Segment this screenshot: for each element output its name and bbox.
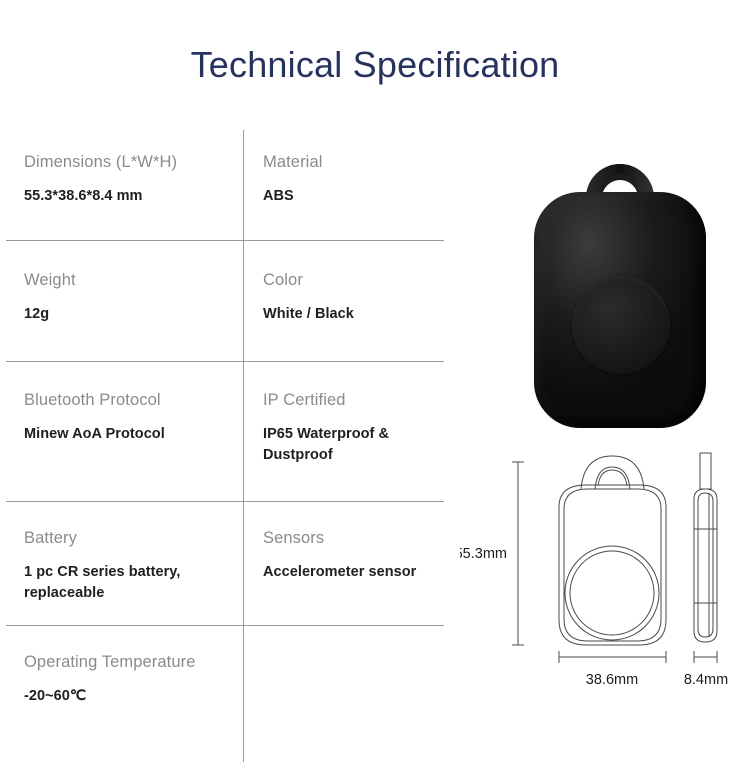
table-cell-battery: Battery 1 pc CR series battery, replacea… xyxy=(24,528,236,604)
cell-value: IP65 Waterproof & Dustproof xyxy=(263,424,453,466)
product-photo xyxy=(520,150,720,435)
cell-label: Operating Temperature xyxy=(24,652,236,673)
table-cell-bluetooth-protocol: Bluetooth Protocol Minew AoA Protocol xyxy=(24,390,236,445)
cell-label: IP Certified xyxy=(263,390,453,411)
table-cell-dimensions: Dimensions (L*W*H) 55.3*38.6*8.4 mm xyxy=(24,152,236,207)
width-dimension-label: 38.6mm xyxy=(586,672,638,688)
table-column-divider xyxy=(243,130,244,762)
cell-label: Color xyxy=(263,270,453,291)
table-cell-operating-temperature: Operating Temperature -20~60℃ xyxy=(24,652,236,707)
thickness-dimension-label: 8.4mm xyxy=(684,672,728,688)
specification-table: Dimensions (L*W*H) 55.3*38.6*8.4 mm Mate… xyxy=(6,130,444,762)
cell-value: 12g xyxy=(24,304,236,325)
cell-value: 55.3*38.6*8.4 mm xyxy=(24,186,236,207)
page-title: Technical Specification xyxy=(0,44,750,86)
table-row-divider xyxy=(6,625,444,626)
cell-label: Dimensions (L*W*H) xyxy=(24,152,236,173)
cell-label: Battery xyxy=(24,528,236,549)
technical-drawings: 55.3mm 38.6mm 8.4mm xyxy=(460,445,750,690)
cell-value: Accelerometer sensor xyxy=(263,562,453,583)
height-dimension-label: 55.3mm xyxy=(460,546,507,562)
cell-value: ABS xyxy=(263,186,453,207)
table-row-divider xyxy=(6,501,444,502)
cell-label: Bluetooth Protocol xyxy=(24,390,236,411)
table-cell-ip-certified: IP Certified IP65 Waterproof & Dustproof xyxy=(263,390,453,466)
table-cell-weight: Weight 12g xyxy=(24,270,236,325)
table-cell-sensors: Sensors Accelerometer sensor xyxy=(263,528,453,583)
table-cell-material: Material ABS xyxy=(263,152,453,207)
cell-label: Weight xyxy=(24,270,236,291)
cell-label: Sensors xyxy=(263,528,453,549)
cell-label: Material xyxy=(263,152,453,173)
cell-value: White / Black xyxy=(263,304,453,325)
cell-value: -20~60℃ xyxy=(24,686,236,707)
front-view-outline xyxy=(559,456,666,645)
thickness-dimension-line xyxy=(694,651,717,663)
cell-value: 1 pc CR series battery, replaceable xyxy=(24,562,236,604)
table-row-divider xyxy=(6,240,444,241)
table-cell-color: Color White / Black xyxy=(263,270,453,325)
height-dimension-line xyxy=(512,462,524,645)
side-view-outline xyxy=(694,453,717,642)
table-cell-empty xyxy=(263,652,453,665)
table-row-divider xyxy=(6,361,444,362)
cell-value: Minew AoA Protocol xyxy=(24,424,236,445)
width-dimension-line xyxy=(559,651,666,663)
product-round-button xyxy=(572,276,670,374)
